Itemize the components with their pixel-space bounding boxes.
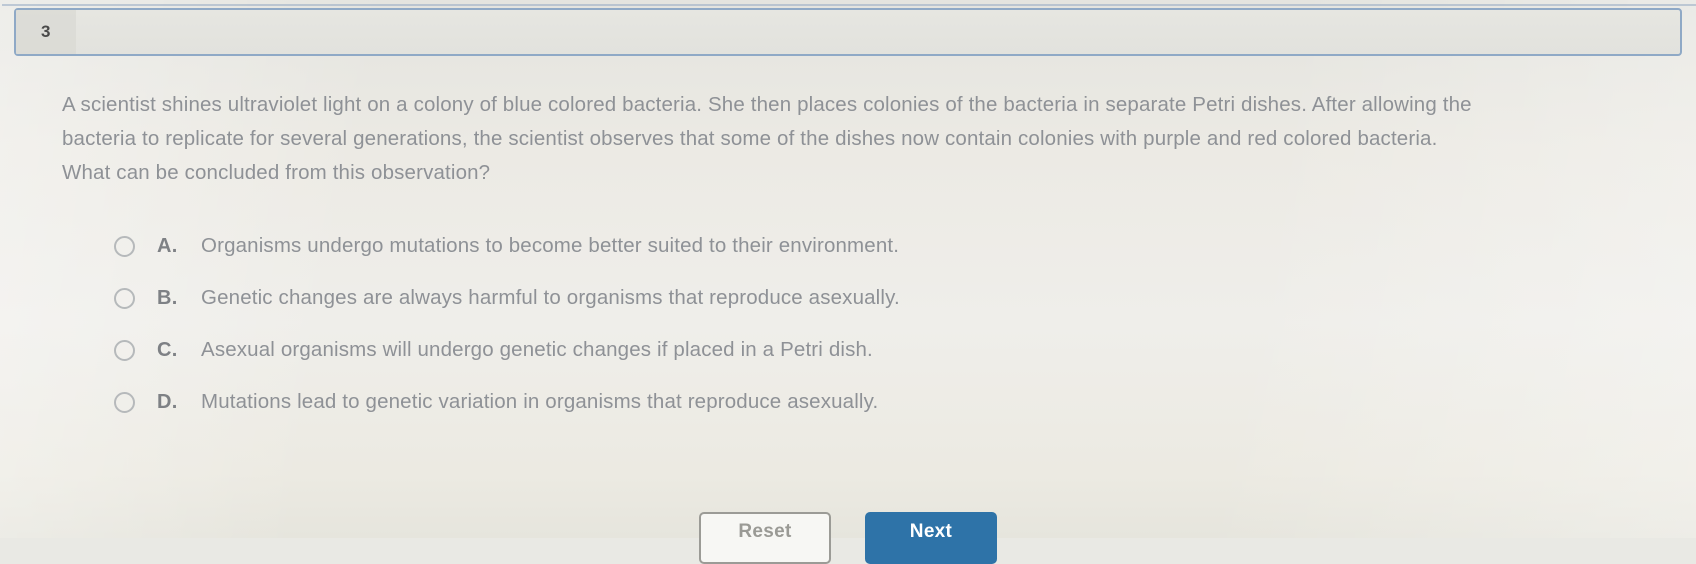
next-button[interactable]: Next bbox=[865, 512, 997, 564]
answer-option-c[interactable]: C. Asexual organisms will undergo geneti… bbox=[114, 326, 1414, 374]
option-letter-d: D. bbox=[157, 391, 201, 414]
radio-button-icon-c[interactable] bbox=[114, 340, 135, 361]
radio-button-icon-a[interactable] bbox=[114, 236, 135, 257]
footer-actions: Reset Next bbox=[0, 512, 1696, 538]
option-letter-c: C. bbox=[157, 339, 201, 362]
radio-button-icon-d[interactable] bbox=[114, 392, 135, 413]
option-text-c: Asexual organisms will undergo genetic c… bbox=[201, 338, 873, 362]
question-stem-line-3: What can be concluded from this observat… bbox=[62, 156, 1622, 190]
quiz-page: 3 A scientist shines ultraviolet light o… bbox=[0, 0, 1696, 538]
radio-button-icon-b[interactable] bbox=[114, 288, 135, 309]
reset-button[interactable]: Reset bbox=[699, 512, 831, 564]
option-text-a: Organisms undergo mutations to become be… bbox=[201, 234, 899, 258]
option-text-b: Genetic changes are always harmful to or… bbox=[201, 286, 900, 310]
question-number: 3 bbox=[41, 22, 51, 42]
question-stem: A scientist shines ultraviolet light on … bbox=[62, 88, 1622, 190]
question-stem-line-1: A scientist shines ultraviolet light on … bbox=[62, 88, 1622, 122]
answer-options: A. Organisms undergo mutations to become… bbox=[114, 222, 1414, 430]
answer-option-a[interactable]: A. Organisms undergo mutations to become… bbox=[114, 222, 1414, 270]
answer-option-b[interactable]: B. Genetic changes are always harmful to… bbox=[114, 274, 1414, 322]
option-text-d: Mutations lead to genetic variation in o… bbox=[201, 390, 878, 414]
option-letter-b: B. bbox=[157, 287, 201, 310]
question-number-cell: 3 bbox=[16, 10, 76, 54]
answer-option-d[interactable]: D. Mutations lead to genetic variation i… bbox=[114, 378, 1414, 426]
question-stem-line-2: bacteria to replicate for several genera… bbox=[62, 122, 1622, 156]
question-number-bar: 3 bbox=[14, 8, 1682, 56]
option-letter-a: A. bbox=[157, 235, 201, 258]
